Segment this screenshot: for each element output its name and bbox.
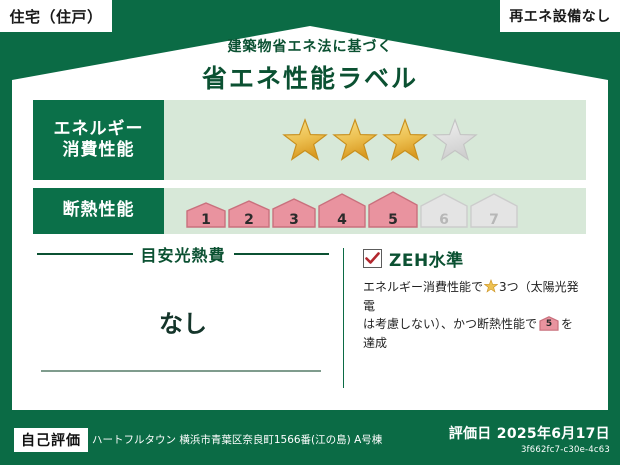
grade-number: 6 [420,212,468,228]
inline-grade-badge: 5 [539,316,559,331]
zeh-description: エネルギー消費性能で3つ（太陽光発電は考慮しない）、かつ断熱性能で5を達成 [363,278,585,352]
insulation-grade-4: 4 [318,193,366,232]
insulation-grade-2: 2 [228,200,270,232]
checkbox-checked-icon[interactable] [363,249,382,268]
utility-cost-heading: 目安光熱費 [33,242,333,266]
energy-label-line2: 消費性能 [63,140,135,161]
insulation-grade-5: 5 [368,191,418,232]
insulation-performance-value: 1 2 3 4 [164,188,586,234]
header-title-block: 建築物省エネ法に基づく 省エネ性能ラベル [0,36,620,95]
evaluation-date-value: 2025年6月17日 [497,426,610,442]
self-evaluation-badge: 自己評価 [14,428,88,452]
evaluation-date-label: 評価日 [449,426,492,442]
footer: 自己評価 ハートフルタウン 横浜市青葉区奈良町1566番(江の島) A号棟 評価… [0,410,620,465]
grade-number: 4 [318,212,366,228]
grade-number: 5 [368,212,418,228]
grade-number: 2 [228,212,270,228]
evaluation-date-block: 評価日 2025年6月17日 3f662fc7-c30e-4c63 [449,423,610,455]
star-filled-icon [332,117,378,163]
star-empty-icon [432,117,478,163]
insulation-grade-6: 6 [420,193,468,232]
utility-cost-value: なし [33,304,333,339]
energy-label-line1: エネルギー [54,119,144,140]
utility-cost-block: 目安光熱費 なし [33,242,333,339]
lower-info-area: 目安光熱費 なし ZEH水準 エネルギー消費性能で3つ（太陽光発電は考慮しない）… [33,242,586,400]
rule-right [234,253,330,255]
star-filled-icon [382,117,428,163]
utility-cost-underline [41,370,321,372]
insulation-grade-7: 7 [470,193,518,232]
star-filled-icon [282,117,328,163]
document-hash: 3f662fc7-c30e-4c63 [449,445,610,455]
energy-performance-label: 住宅（住戸） 再エネ設備なし 建築物省エネ法に基づく 省エネ性能ラベル エネルギ… [0,0,620,465]
header-subtitle: 建築物省エネ法に基づく [0,36,620,56]
insulation-grade-1: 1 [186,202,226,232]
insulation-grade-scale: 1 2 3 4 [186,191,518,232]
insulation-performance-row: 断熱性能 1 2 3 [33,188,586,234]
star-filled-icon [484,279,498,293]
inline-grade-number: 5 [539,318,559,331]
zeh-title: ZEH水準 [389,246,464,271]
zeh-desc-part3: は考慮しない）、かつ断熱性能で [363,317,537,331]
grade-number: 7 [470,212,518,228]
utility-cost-title: 目安光熱費 [141,242,226,266]
evaluation-date: 評価日 2025年6月17日 [449,423,610,443]
label-body-panel: エネルギー 消費性能 [20,92,600,410]
vertical-divider [343,248,344,388]
zeh-desc-part1: エネルギー消費性能で [363,280,483,294]
zeh-block: ZEH水準 エネルギー消費性能で3つ（太陽光発電は考慮しない）、かつ断熱性能で5… [363,246,585,352]
page-title: 省エネ性能ラベル [0,59,620,95]
energy-performance-label-box: エネルギー 消費性能 [33,100,164,180]
zeh-heading: ZEH水準 [363,246,585,271]
energy-performance-row: エネルギー 消費性能 [33,100,586,180]
energy-performance-value [164,100,586,180]
grade-number: 1 [186,212,226,228]
star-rating [282,117,478,163]
rule-left [37,253,133,255]
grade-number: 3 [272,212,316,228]
tag-dwelling-type: 住宅（住戸） [0,0,112,32]
property-address: ハートフルタウン 横浜市青葉区奈良町1566番(江の島) A号棟 [92,432,382,447]
insulation-grade-3: 3 [272,198,316,232]
insulation-label: 断熱性能 [63,200,135,221]
tag-renewable-energy: 再エネ設備なし [500,0,620,32]
insulation-performance-label-box: 断熱性能 [33,188,164,234]
